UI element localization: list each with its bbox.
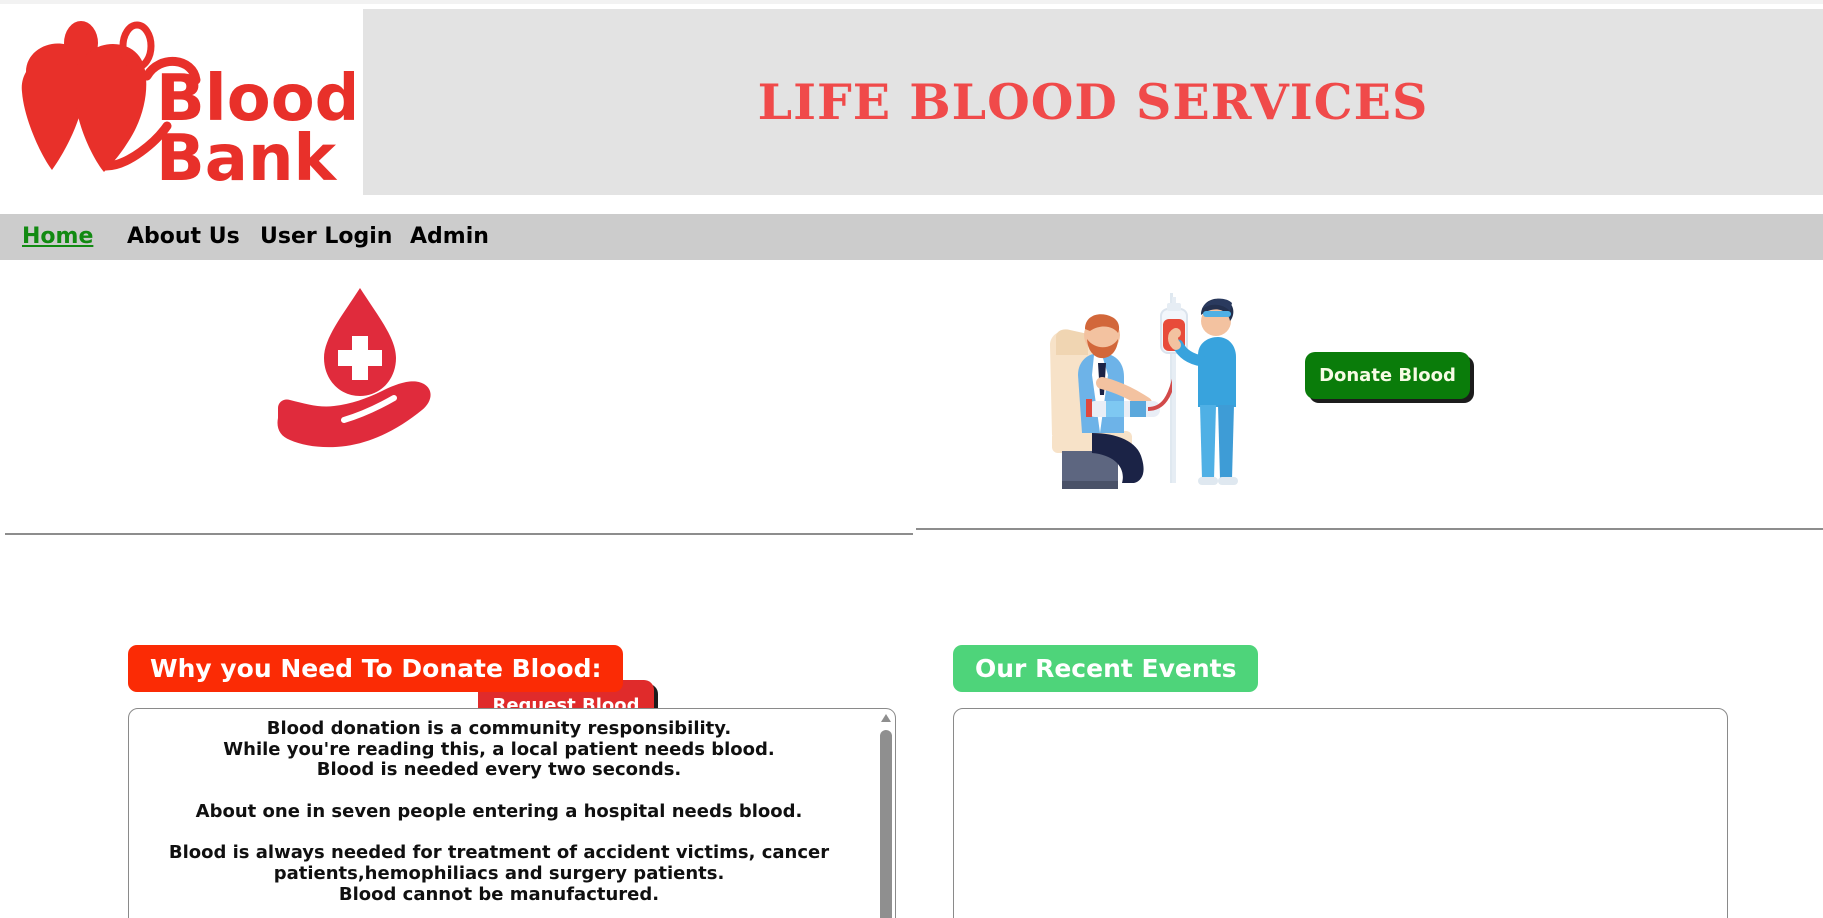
why-donate-heading: Why you Need To Donate Blood: — [128, 645, 623, 692]
header-band: Blood Bank LIFE BLOOD SERVICES — [0, 0, 1823, 196]
donate-blood-button[interactable]: Donate Blood — [1305, 352, 1470, 399]
nav-item-user-login[interactable]: User Login — [260, 224, 392, 249]
info-scrollbar[interactable] — [878, 710, 894, 918]
blood-bank-logo[interactable]: Blood Bank — [6, 10, 358, 195]
scroll-thumb[interactable] — [880, 730, 892, 918]
recent-events-heading: Our Recent Events — [953, 645, 1258, 692]
divider-left — [5, 533, 913, 535]
header-top-rule — [0, 0, 1823, 4]
nav-item-home[interactable]: Home — [22, 224, 93, 249]
page-root: Blood Bank LIFE BLOOD SERVICES Home Abou… — [0, 0, 1823, 918]
nav-item-admin[interactable]: Admin — [410, 224, 489, 249]
site-title: LIFE BLOOD SERVICES — [363, 9, 1823, 195]
recent-events-box — [953, 708, 1728, 918]
blood-drop-in-hand-icon — [272, 280, 452, 455]
why-donate-info-box: Blood donation is a community responsibi… — [128, 708, 896, 918]
scroll-up-arrow-icon[interactable] — [881, 714, 891, 722]
divider-right — [916, 528, 1823, 530]
hero-section: Request Blood — [0, 260, 1823, 540]
blood-donation-chair-illustration — [1030, 283, 1238, 495]
nav-item-about-us[interactable]: About Us — [127, 224, 240, 249]
svg-text:Bank: Bank — [156, 122, 338, 190]
main-navigation: Home About Us User Login Admin — [0, 214, 1823, 260]
why-donate-info-text: Blood donation is a community responsibi… — [129, 719, 869, 918]
blood-bank-logo-icon: Blood Bank — [10, 14, 354, 190]
